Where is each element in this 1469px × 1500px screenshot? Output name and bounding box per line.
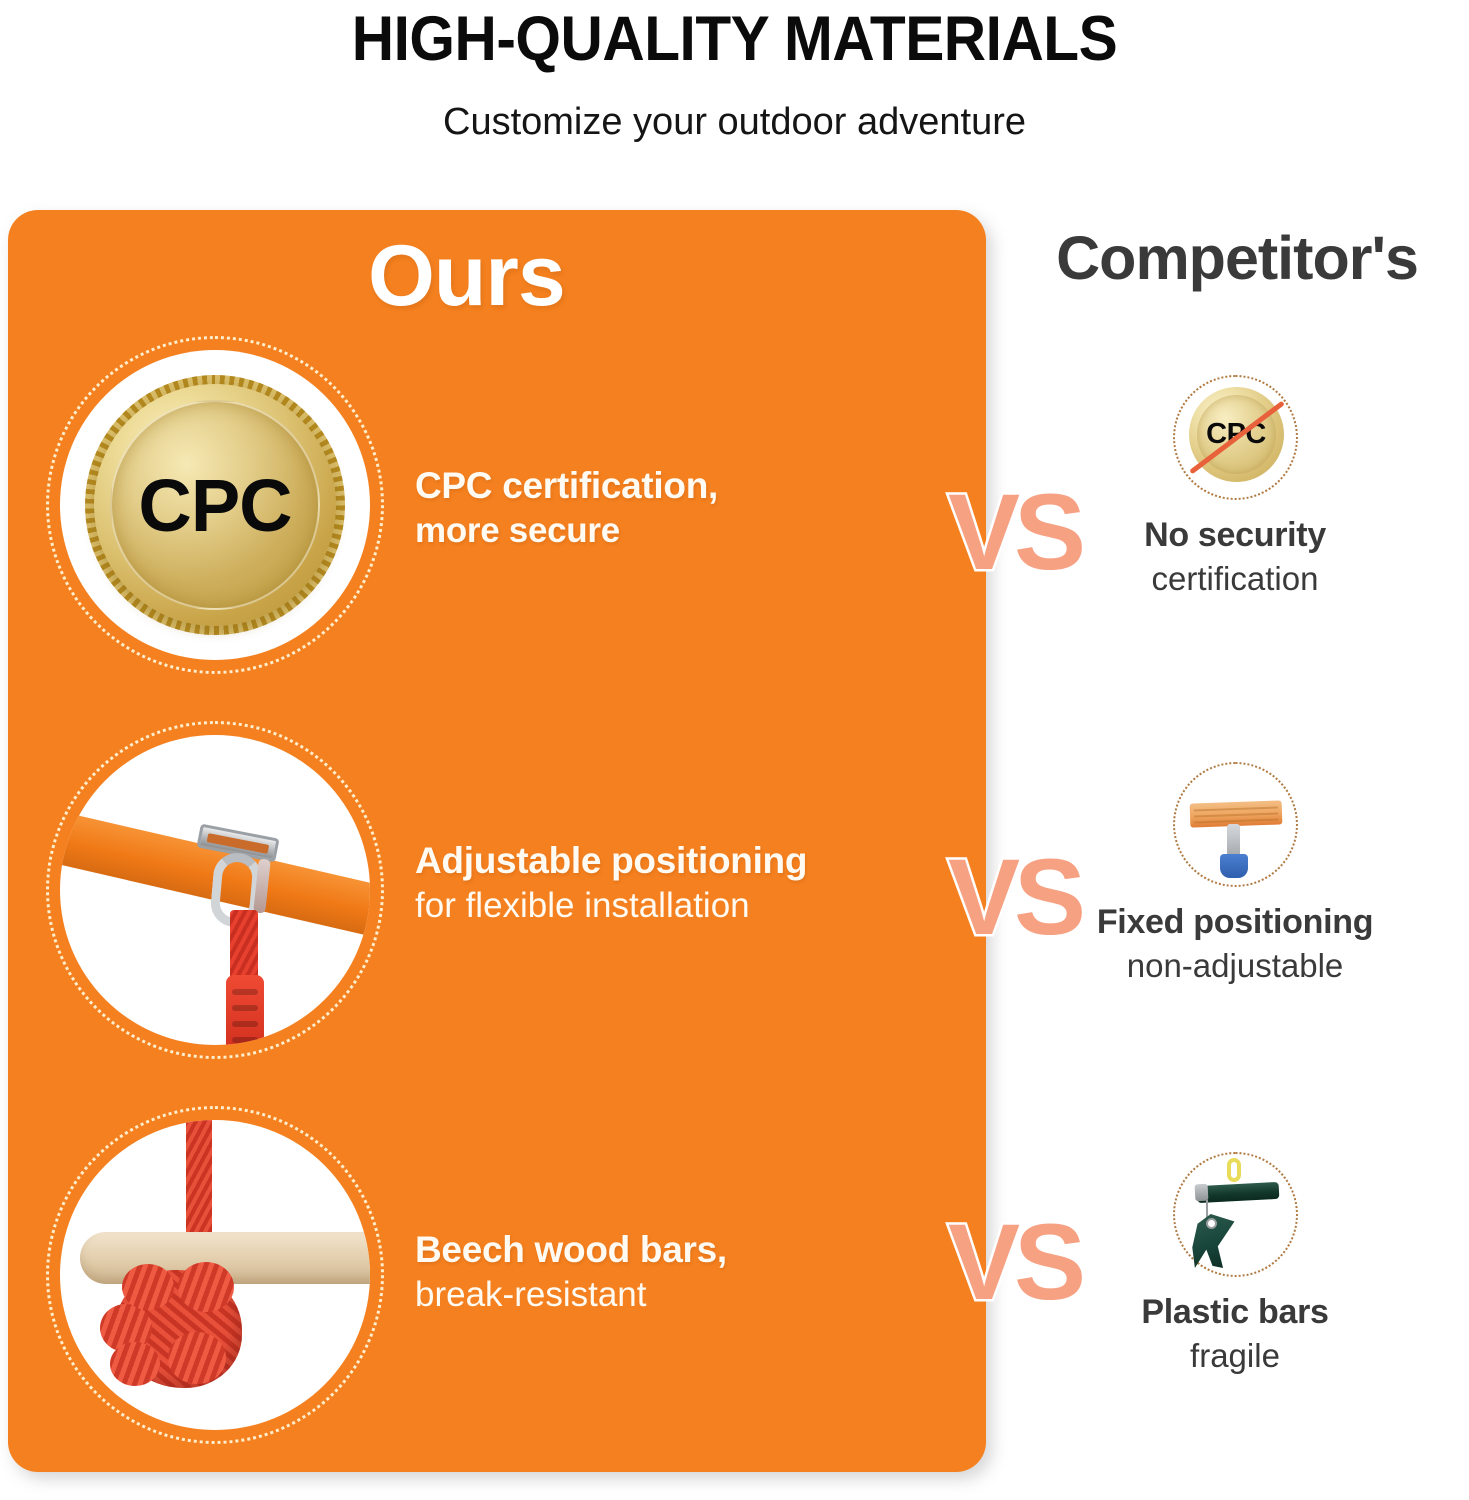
plastic-bar-hook-icon	[1173, 1152, 1298, 1277]
competitor-item-2-line2: non-adjustable	[1005, 944, 1465, 987]
rope-knot-icon	[116, 1270, 242, 1388]
ours-feature-3-line1: Beech wood bars,	[415, 1227, 727, 1272]
competitor-item-3-line1: Plastic bars	[1005, 1291, 1465, 1334]
red-rope-icon	[186, 1120, 212, 1240]
ours-photo-beech-bar	[60, 1120, 370, 1430]
ours-feature-1: CPC certification, more secure	[415, 463, 718, 553]
connector-line-icon	[1206, 1200, 1208, 1218]
ours-feature-2-line2: for flexible installation	[415, 883, 807, 928]
bar-end-cap-icon	[1194, 1184, 1208, 1202]
competitor-heading-wrap: Competitor's	[1005, 222, 1469, 294]
competitor-item-2-line1: Fixed positioning	[1005, 901, 1465, 944]
ours-feature-2-line1: Adjustable positioning	[415, 838, 807, 883]
ours-feature-3: Beech wood bars, break-resistant	[415, 1227, 727, 1317]
ours-feature-1-line1: CPC certification,	[415, 463, 718, 508]
ours-photo-cpc-medal: CPC	[60, 350, 370, 660]
yellow-clip-icon	[1227, 1158, 1241, 1182]
competitor-item-1-line1: No security	[1005, 514, 1465, 557]
gold-medal-icon: CPC	[94, 384, 336, 626]
crossed-out-cpc-badge-icon: CPC	[1173, 375, 1298, 500]
competitor-item-1-line2: certification	[1005, 557, 1465, 600]
competitor-item-2-label: Fixed positioning non-adjustable	[1005, 901, 1465, 987]
hook-hole-icon	[1206, 1218, 1217, 1229]
competitor-item-2: Fixed positioning non-adjustable	[1005, 762, 1465, 987]
ours-feature-2: Adjustable positioning for flexible inst…	[415, 838, 807, 928]
competitor-item-1: CPC No security certification	[1005, 375, 1465, 600]
rope-grip-icon	[226, 975, 264, 1045]
page-subtitle: Customize your outdoor adventure	[0, 97, 1469, 147]
page-header: HIGH-QUALITY MATERIALS Customize your ou…	[0, 0, 1469, 180]
ours-heading: Ours	[368, 228, 668, 324]
blue-clip-icon	[1220, 854, 1248, 878]
ours-photo-strap-carabiner	[60, 735, 370, 1045]
fixed-strap-hook-icon	[1173, 762, 1298, 887]
competitor-heading: Competitor's	[1005, 222, 1469, 294]
competitor-item-3-label: Plastic bars fragile	[1005, 1291, 1465, 1377]
ours-feature-3-line2: break-resistant	[415, 1272, 727, 1317]
medal-label: CPC	[94, 384, 336, 626]
page-title: HIGH-QUALITY MATERIALS	[51, 2, 1417, 76]
competitor-item-3-line2: fragile	[1005, 1334, 1465, 1377]
competitor-item-3: Plastic bars fragile	[1005, 1152, 1465, 1377]
ours-feature-1-line2: more secure	[415, 508, 718, 553]
competitor-item-1-label: No security certification	[1005, 514, 1465, 600]
